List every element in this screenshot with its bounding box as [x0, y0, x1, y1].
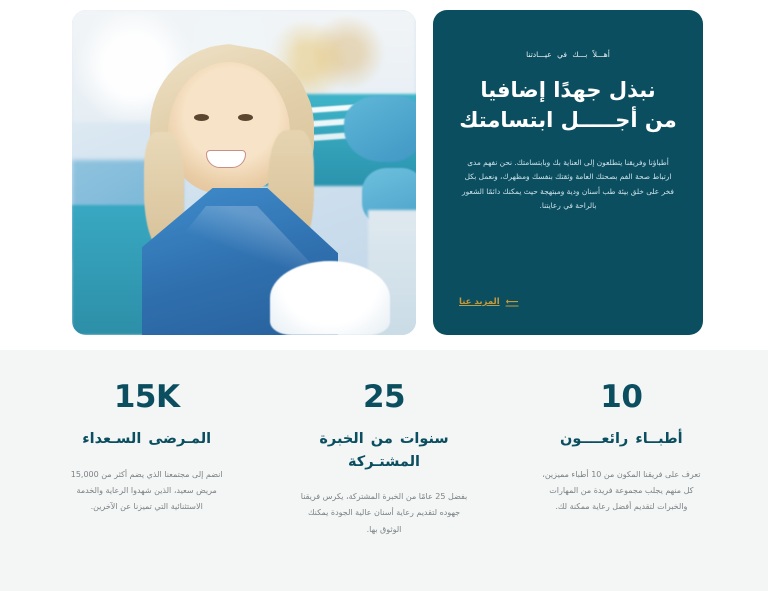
hero-body-text: أطباؤنا وفريقنا يتطلعون إلى العناية بك و…	[459, 156, 677, 214]
photo-child-smile	[206, 150, 246, 168]
clinic-photo	[72, 10, 416, 335]
stat-value-experience: 25	[363, 380, 405, 414]
stat-label-doctors: أطبــاء رائعــــون	[560, 428, 683, 450]
photo-spit-bowl	[270, 261, 390, 335]
more-about-us-link[interactable]: ⟵ المزيد عنا	[459, 297, 519, 309]
hero-title-line-2: من أجـــــل ابتسامتك	[459, 105, 677, 135]
photo-child-eye-left	[194, 114, 209, 121]
hero-image	[72, 10, 416, 335]
photo-gloved-hand-upper	[344, 96, 416, 162]
stats-section: 10 أطبــاء رائعــــون تعرف على فريقنا ال…	[0, 350, 768, 591]
stat-desc-doctors: تعرف على فريقنا المكون من 10 أطباء مميزي…	[541, 467, 701, 516]
stat-desc-patients: انضم إلى مجتمعنا الذي يضم أكثر من 15,000…	[61, 467, 233, 516]
hero-eyebrow: أهـــلاً بـــك في عيـــادتنا	[459, 50, 677, 59]
page-root: أهـــلاً بـــك في عيـــادتنا نبذل جهدًا …	[0, 0, 768, 591]
more-about-us-label: المزيد عنا	[459, 297, 500, 307]
stat-desc-experience: بفضل 25 عامًا من الخبرة المشتركة، يكرس ف…	[298, 489, 470, 538]
stat-value-doctors: 10	[600, 380, 642, 414]
hero-title-line-1: نبذل جهدًا إضافيا	[459, 75, 677, 105]
stat-card-patients: 15K المـرضى السـعداء انضم إلى مجتمعنا ال…	[28, 380, 265, 591]
stat-label-experience: سنوات من الخبرة المشتـركة	[283, 428, 484, 473]
hero-text-card: أهـــلاً بـــك في عيـــادتنا نبذل جهدًا …	[433, 10, 703, 335]
hero-title: نبذل جهدًا إضافيا من أجـــــل ابتسامتك	[459, 75, 677, 136]
arrow-left-icon: ⟵	[506, 298, 519, 307]
hero-section: أهـــلاً بـــك في عيـــادتنا نبذل جهدًا …	[0, 0, 768, 350]
stat-label-patients: المـرضى السـعداء	[82, 428, 211, 450]
stat-card-doctors: 10 أطبــاء رائعــــون تعرف على فريقنا ال…	[503, 380, 740, 591]
stat-value-patients: 15K	[114, 380, 180, 414]
photo-child-eye-right	[238, 114, 253, 121]
stat-card-experience: 25 سنوات من الخبرة المشتـركة بفضل 25 عام…	[265, 380, 502, 591]
